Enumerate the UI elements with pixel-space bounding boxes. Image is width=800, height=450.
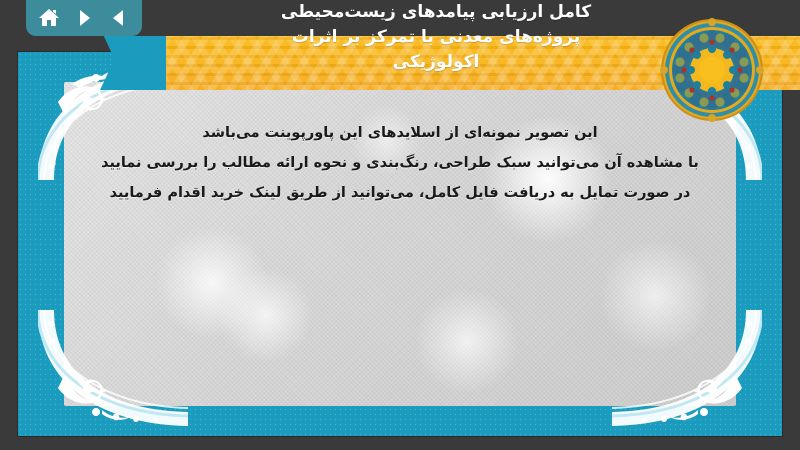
slide-navigation-bar[interactable] xyxy=(26,0,142,36)
body-line-1: این تصویر نمونه‌ای از اسلایدهای این پاور… xyxy=(46,118,754,148)
next-slide-button[interactable] xyxy=(71,5,97,31)
home-icon xyxy=(37,6,61,30)
home-button[interactable] xyxy=(36,5,62,31)
triangle-right-icon xyxy=(73,7,95,29)
slide-body-text: این تصویر نمونه‌ای از اسلایدهای این پاور… xyxy=(46,118,754,208)
body-line-2: با مشاهده آن می‌توانید سبک طراحی، رنگ‌بن… xyxy=(46,148,754,178)
body-line-3: در صورت تمایل به دریافت فایل کامل، می‌تو… xyxy=(46,178,754,208)
triangle-left-icon xyxy=(108,7,130,29)
ornamental-medallion-icon xyxy=(660,18,764,122)
previous-slide-button[interactable] xyxy=(106,5,132,31)
